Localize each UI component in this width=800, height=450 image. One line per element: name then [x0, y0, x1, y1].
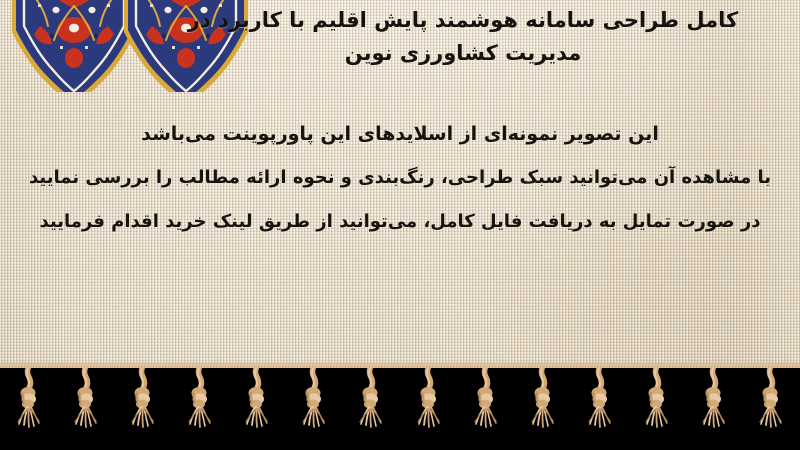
- fringe-tassel: [244, 368, 270, 430]
- fringe-tassel: [130, 368, 156, 430]
- fringe-tassel: [758, 368, 784, 430]
- fringe-tassel: [644, 368, 670, 430]
- slide-title: کامل طراحی سامانه هوشمند پایش اقلیم با ک…: [150, 4, 776, 70]
- persian-medallion-icon-left: [10, 0, 138, 92]
- slide-title-line-2: مدیریت کشاورزی نوین: [150, 37, 776, 70]
- fringe-tassel: [530, 368, 556, 430]
- slide-body-line-1: این تصویر نمونه‌ای از اسلایدهای این پاور…: [20, 112, 780, 156]
- fringe-tassel: [73, 368, 99, 430]
- fringe-tassel: [16, 368, 42, 430]
- fringe-tassel: [358, 368, 384, 430]
- fringe-tassel: [416, 368, 442, 430]
- fringe-tassel: [587, 368, 613, 430]
- fringe-tassel: [301, 368, 327, 430]
- slide-canvas: کامل طراحی سامانه هوشمند پایش اقلیم با ک…: [0, 0, 800, 450]
- slide-body-line-2: با مشاهده آن می‌توانید سبک طراحی، رنگ‌بن…: [20, 156, 780, 200]
- fringe-tassel: [473, 368, 499, 430]
- fringe-tassel: [187, 368, 213, 430]
- fringe-tassel-row: [0, 368, 800, 384]
- slide-body: این تصویر نمونه‌ای از اسلایدهای این پاور…: [20, 112, 780, 244]
- slide-title-line-1: کامل طراحی سامانه هوشمند پایش اقلیم با ک…: [150, 4, 776, 37]
- carpet-fringe-band: [0, 368, 800, 450]
- slide-body-line-3: در صورت تمایل به دریافت فایل کامل، می‌تو…: [20, 200, 780, 244]
- fringe-tassel: [701, 368, 727, 430]
